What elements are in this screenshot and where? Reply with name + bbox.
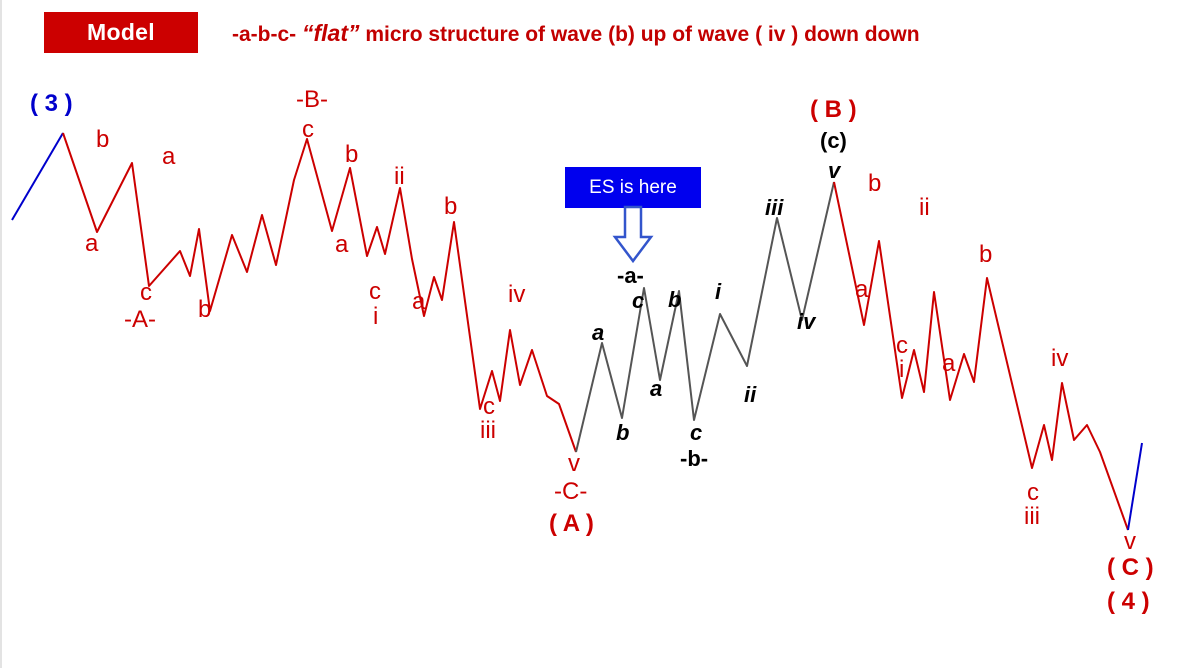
title-post: micro structure of wave (b) up of wave (… [360, 23, 920, 46]
model-badge-label: Model [87, 19, 155, 46]
wave-label-a-15: a [412, 290, 425, 314]
es-is-here-callout: ES is here [565, 167, 701, 208]
wave-label-iii-46: iii [1024, 505, 1040, 529]
wave-polyline-wave-4-lead-out [1128, 443, 1142, 530]
wave-label-a-42: a [942, 352, 955, 376]
wave-label-a-10: a [335, 233, 348, 257]
wave-label-b-43: b [979, 243, 992, 267]
wave-label-a-38: a [855, 278, 868, 302]
page-title: -a-b-c- “flat” micro structure of wave (… [232, 20, 920, 47]
wave-label-c-4: c [140, 281, 152, 305]
wave-polyline-wave-C-down [834, 182, 1128, 530]
wave-label-c-17: c [483, 395, 495, 419]
wave-label-C-48: ( C ) [1107, 556, 1154, 580]
wave-label-ii-31: ii [744, 384, 756, 406]
wave-label-a-22: a [592, 322, 604, 344]
wave-label-iv-44: iv [1051, 347, 1068, 371]
title-flat-word: “flat” [302, 20, 360, 46]
title-pre: -a-b-c- [232, 23, 302, 46]
wave-label-b-37: b [868, 172, 881, 196]
wave-label-iii-18: iii [480, 419, 496, 443]
wave-label-c-25: c [632, 290, 644, 312]
down-arrow-icon [611, 205, 655, 265]
wave-label-b-1: b [96, 128, 109, 152]
wave-label-a-2: a [85, 232, 98, 256]
wave-label-a-3: a [162, 145, 175, 169]
wave-label-iii-32: iii [765, 197, 783, 219]
wave-label-c-40: c [896, 334, 908, 358]
wave-label-iv-33: iv [797, 311, 815, 333]
wave-label-i-41: i [899, 358, 904, 382]
wave-label-v-36: v [828, 160, 840, 182]
es-is-here-label: ES is here [589, 177, 677, 199]
wave-label-3-0: ( 3 ) [30, 92, 73, 116]
wave-label-A-21: ( A ) [549, 512, 594, 536]
wave-label-b-27: b [668, 289, 681, 311]
model-badge: Model [44, 12, 198, 53]
wave-label-c-8: c [302, 118, 314, 142]
wave-label-c-12: c [369, 280, 381, 304]
wave-label-ii-11: ii [394, 165, 405, 189]
wave-label-v-47: v [1124, 530, 1136, 554]
wave-label-a-26: a [650, 378, 662, 400]
wave-label-ii-39: ii [919, 196, 930, 220]
wave-label-a-24: -a- [617, 265, 644, 287]
wave-label-A-5: -A- [124, 308, 156, 332]
wave-label-c-28: c [690, 422, 702, 444]
wave-label-i-30: i [715, 281, 721, 303]
wave-label-C-20: -C- [554, 480, 587, 504]
wave-label-c-45: c [1027, 481, 1039, 505]
wave-label-b-6: b [198, 298, 211, 322]
wave-label-v-19: v [568, 452, 580, 476]
wave-label-b-14: b [444, 195, 457, 219]
wave-label-iv-16: iv [508, 283, 525, 307]
wave-label-i-13: i [373, 305, 378, 329]
elliott-wave-diagram: Model -a-b-c- “flat” micro structure of … [0, 0, 1186, 668]
wave-label-B-7: -B- [296, 88, 328, 112]
wave-label-b-23: b [616, 422, 629, 444]
wave-label-B-34: ( B ) [810, 98, 857, 122]
wave-label-b-29: -b- [680, 448, 708, 470]
wave-label-c-35: (c) [820, 130, 847, 152]
wave-polyline-wave-(3)-lead-in [12, 133, 63, 220]
wave-label-b-9: b [345, 143, 358, 167]
wave-label-4-49: ( 4 ) [1107, 590, 1150, 614]
